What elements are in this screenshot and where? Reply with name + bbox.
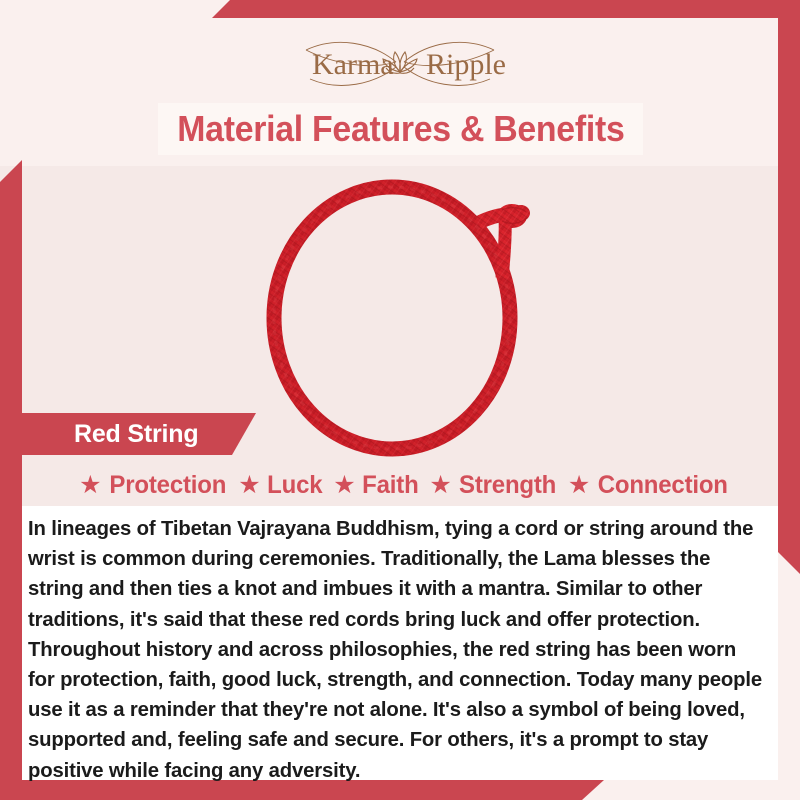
- feature-item-protection: ★ Protection: [69, 471, 228, 500]
- star-icon: ★: [568, 473, 590, 498]
- star-icon: ★: [238, 473, 260, 498]
- feature-item-luck: ★ Luck: [228, 471, 323, 500]
- star-icon: ★: [79, 473, 101, 498]
- feature-label: Luck: [267, 471, 322, 500]
- star-icon: ★: [429, 473, 451, 498]
- feature-label: Protection: [109, 471, 226, 500]
- feature-label: Faith: [362, 471, 418, 500]
- feature-item-faith: ★ Faith: [323, 471, 419, 500]
- decorative-bar-top: [212, 0, 800, 18]
- feature-list: ★ Protection ★ Luck ★ Faith ★ Strength ★…: [0, 466, 800, 504]
- title-banner: Material Features & Benefits: [158, 103, 643, 155]
- page-title: Material Features & Benefits: [177, 108, 624, 150]
- star-icon: ★: [333, 473, 355, 498]
- feature-item-connection: ★ Connection: [558, 471, 731, 500]
- feature-label: Connection: [598, 471, 728, 500]
- brand-name-left: Karma: [312, 48, 394, 81]
- material-label-text: Red String: [74, 420, 198, 449]
- material-label-ribbon: Red String: [22, 413, 256, 455]
- description-panel: In lineages of Tibetan Vajrayana Buddhis…: [22, 506, 778, 780]
- brand-name-right: Ripple: [426, 48, 506, 81]
- description-text: In lineages of Tibetan Vajrayana Buddhis…: [28, 514, 764, 786]
- background-band-product: [0, 166, 800, 506]
- feature-label: Strength: [459, 471, 556, 500]
- brand-logo-svg: Karma Ripple: [250, 34, 550, 94]
- brand-logo: Karma Ripple: [0, 34, 800, 94]
- feature-item-strength: ★ Strength: [419, 471, 558, 500]
- product-infographic-page: Karma Ripple Material Features & Benefit…: [0, 0, 800, 800]
